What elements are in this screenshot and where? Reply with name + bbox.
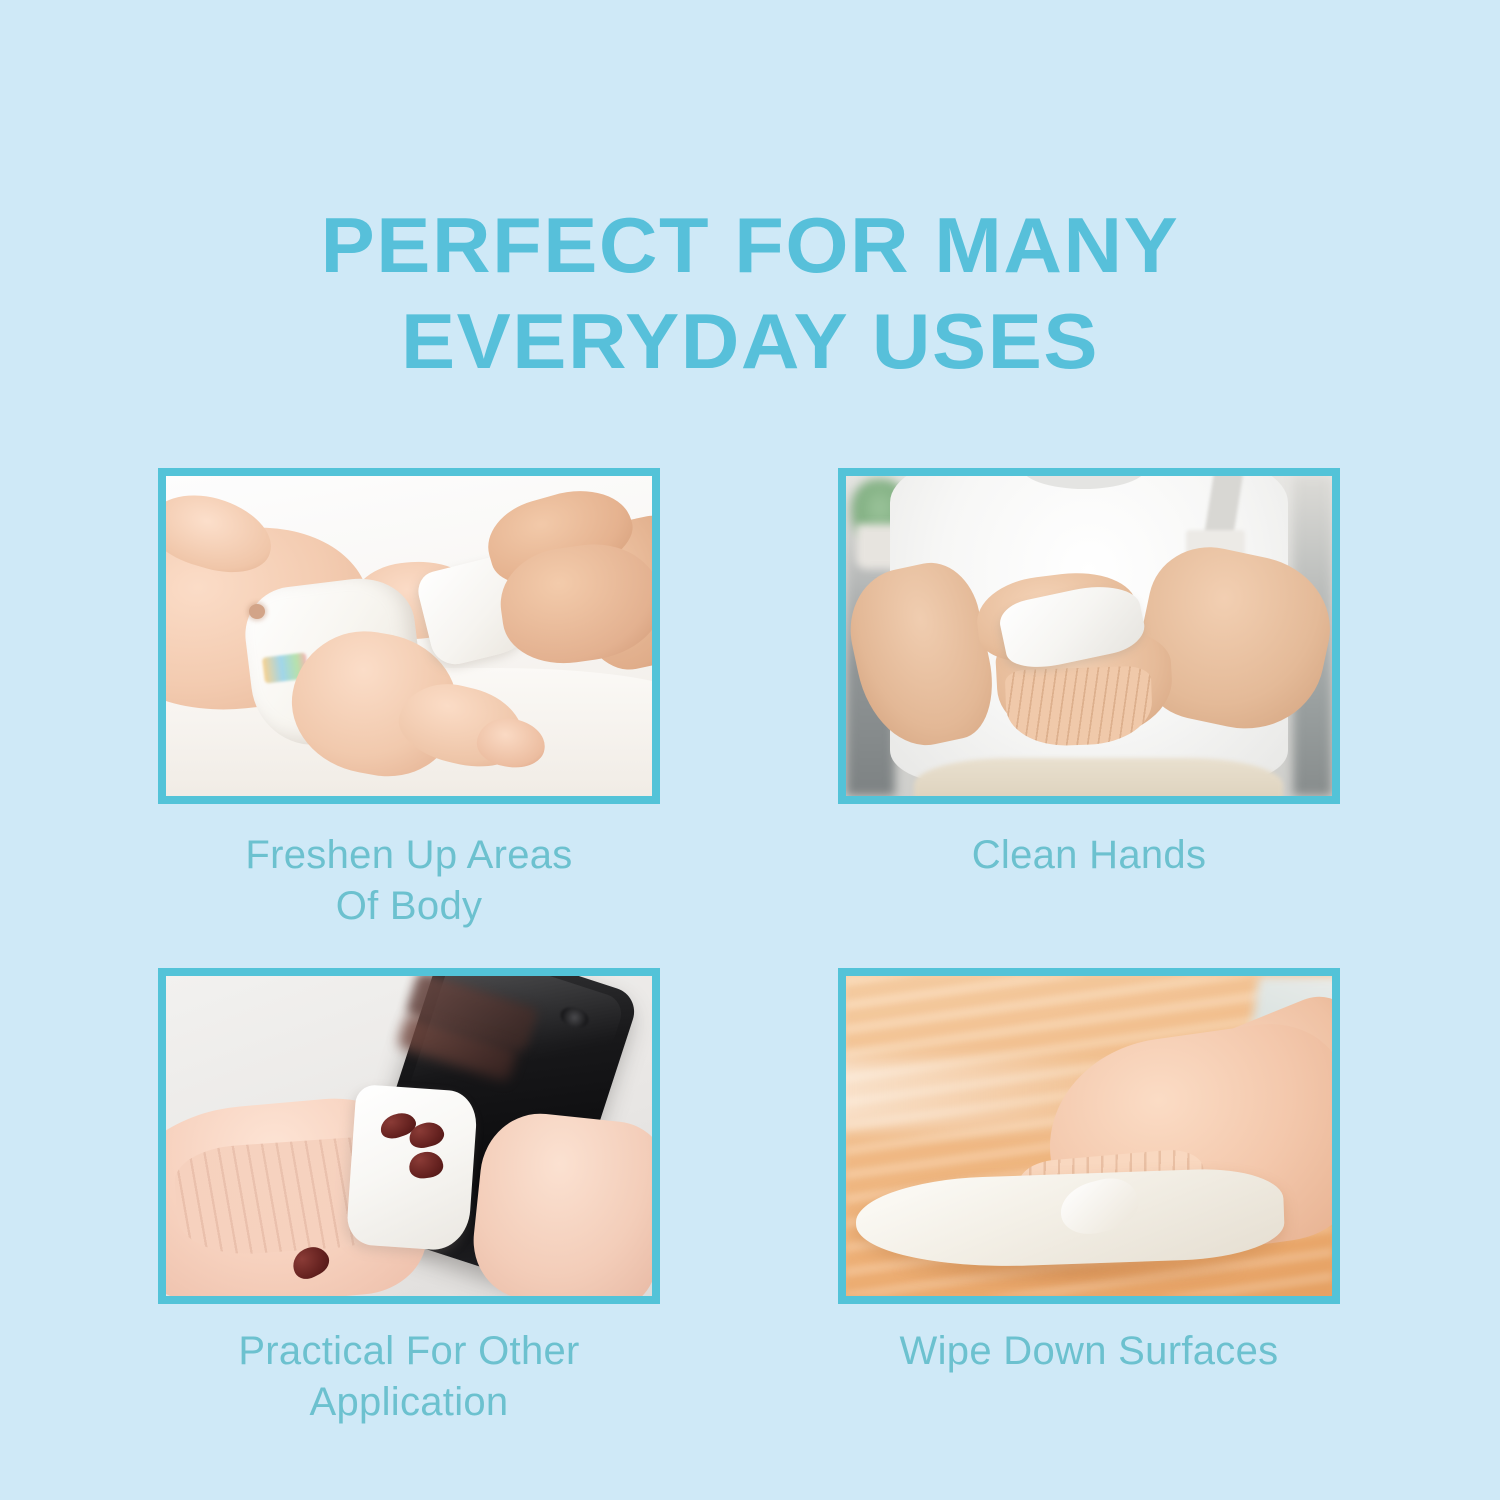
photo-phone-cleaning <box>166 976 652 1296</box>
product-feature-infographic: PERFECT FOR MANY EVERYDAY USES <box>0 0 1500 1500</box>
use-case-image-wipe-down-surfaces <box>838 968 1340 1304</box>
lower-background-shape <box>914 758 1283 796</box>
supporting-hand-shape <box>468 1108 652 1296</box>
use-case-image-practical-for-other-application <box>158 968 660 1304</box>
use-case-image-clean-hands <box>838 468 1340 804</box>
photo-baby-diaper-wipe <box>166 476 652 796</box>
use-case-caption-freshen-up-areas-of-body: Freshen Up Areas Of Body <box>158 804 660 968</box>
use-case-image-freshen-up-areas-of-body <box>158 468 660 804</box>
use-case-caption-wipe-down-surfaces: Wipe Down Surfaces <box>838 1300 1340 1470</box>
photo-surface-wiping <box>846 976 1332 1296</box>
use-case-caption-practical-for-other-application: Practical For Other Application <box>158 1300 660 1470</box>
use-case-caption-clean-hands: Clean Hands <box>838 804 1340 968</box>
use-case-grid: Freshen Up Areas Of Body Clean Hands <box>158 468 1342 1300</box>
photo-clean-hands <box>846 476 1332 796</box>
page-title: PERFECT FOR MANY EVERYDAY USES <box>0 197 1500 389</box>
